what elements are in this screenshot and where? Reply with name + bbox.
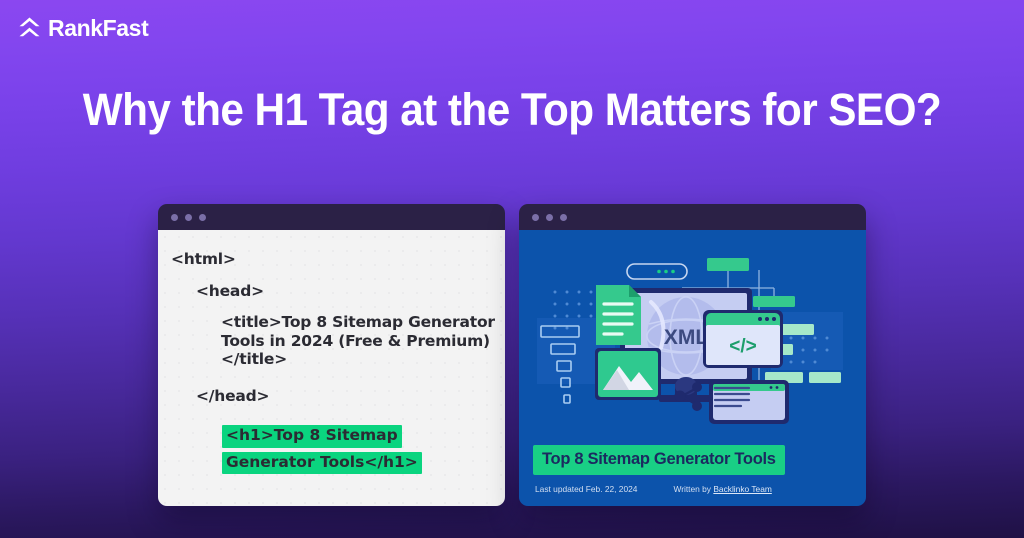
search-bar-shape [627,264,687,279]
preview-author: Written by Backlinko Team [673,484,771,494]
code-line-head-close: </head> [171,389,489,405]
html-code-window: <html> <head> <title>Top 8 Sitemap Gener… [158,204,505,506]
code-line-h1-close: Generator Tools</h1> [222,452,422,475]
xml-label: XML [664,326,709,349]
author-link[interactable]: Backlinko Team [713,484,772,494]
brand-logo[interactable]: RankFast [18,16,148,41]
preview-window-dot-1[interactable] [532,214,539,221]
code-window-icon: </> [703,310,783,368]
brand-name: RankFast [48,17,148,40]
preview-window-dot-2[interactable] [546,214,553,221]
window-dot-2[interactable] [185,214,192,221]
preview-window-dot-3[interactable] [560,214,567,221]
double-chevron-up-icon [18,16,41,41]
preview-updated-date: Last updated Feb. 22, 2024 [535,484,637,494]
preview-meta: Last updated Feb. 22, 2024 Written by Ba… [535,484,855,494]
window-dot-3[interactable] [199,214,206,221]
code-line-title-close: </title> [171,352,489,368]
written-by-label: Written by [673,484,713,494]
panels-row: <html> <head> <title>Top 8 Sitemap Gener… [158,204,866,506]
preview-window-titlebar [519,204,866,230]
code-line-head-open: <head> [171,284,489,300]
code-line-html-open: <html> [171,252,489,268]
code-window-titlebar [158,204,505,230]
code-line-h1-open-wrap: <h1>Top 8 Sitemap [171,425,489,448]
xml-sitemap-illustration: XML [519,230,866,432]
code-line-title-text: Tools in 2024 (Free & Premium) [171,334,489,350]
code-line-h1-close-wrap: Generator Tools</h1> [171,452,489,475]
article-preview-window: XML [519,204,866,506]
page-title: Why the H1 Tag at the Top Matters for SE… [31,84,994,136]
image-icon [595,348,661,400]
preview-article-title: Top 8 Sitemap Generator Tools [533,445,785,475]
laptop-shape [709,380,789,424]
code-editor-body: <html> <head> <title>Top 8 Sitemap Gener… [158,230,505,506]
code-glyph: </> [729,336,756,357]
code-line-h1-open: <h1>Top 8 Sitemap [222,425,402,448]
preview-body: XML [519,230,866,506]
window-dot-1[interactable] [171,214,178,221]
code-line-title-open: <title>Top 8 Sitemap Generator [171,315,489,331]
document-icon [596,285,641,345]
